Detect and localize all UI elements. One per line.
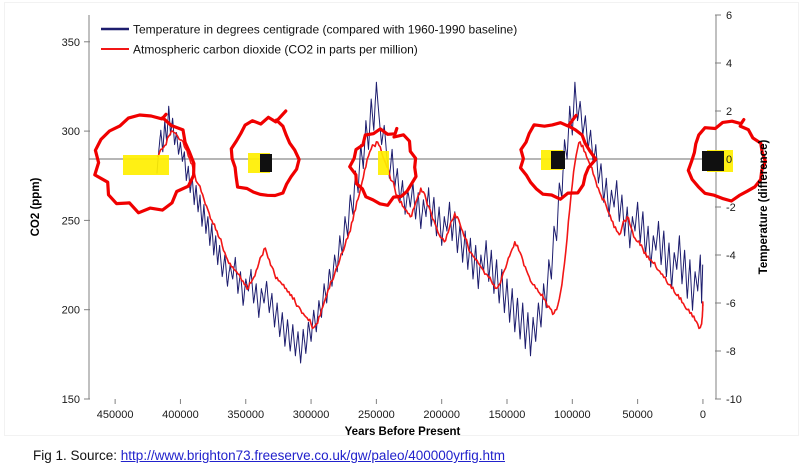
source-link[interactable]: http://www.brighton73.freeserve.co.uk/gw… [121, 448, 505, 463]
chart-series [157, 82, 703, 363]
y2-tick-label: -2 [726, 202, 736, 214]
y2-tick-label: -6 [726, 298, 736, 310]
paleoclimate-chart: Temperature in degrees centigrade (compa… [5, 3, 800, 437]
legend-label: Temperature in degrees centigrade (compa… [133, 23, 517, 37]
annotation-ink-blob [551, 151, 565, 169]
y-tick-label: 250 [62, 215, 80, 227]
y-tick-label: 150 [62, 394, 80, 406]
annotation-highlight [378, 151, 389, 175]
x-tick-label: 450000 [97, 409, 134, 421]
x-tick-label: 350000 [227, 409, 264, 421]
y2-tick-label: -10 [726, 394, 742, 406]
y2-tick-label: -8 [726, 346, 736, 358]
y2-tick-label: -4 [726, 250, 736, 262]
y2-tick-label: 0 [726, 154, 732, 166]
legend-label: Atmospheric carbon dioxide (CO2 in parts… [133, 43, 418, 57]
chart-axes [84, 15, 721, 404]
x-tick-label: 300000 [293, 409, 330, 421]
x-tick-label: 100000 [554, 409, 591, 421]
x-tick-label: 150000 [489, 409, 526, 421]
x-tick-label: 250000 [358, 409, 395, 421]
caption-prefix: Fig 1. Source: [33, 448, 121, 463]
y2-tick-label: 2 [726, 106, 732, 118]
annotation-highlight [123, 155, 169, 175]
y-axis-title: CO2 (ppm) [30, 177, 42, 236]
x-tick-label: 0 [700, 409, 706, 421]
annotation-ink-blob [260, 154, 272, 172]
figure-page: Temperature in degrees centigrade (compa… [0, 0, 805, 475]
y2-tick-label: 6 [726, 10, 732, 22]
y-tick-label: 350 [62, 37, 80, 49]
x-tick-label: 50000 [622, 409, 653, 421]
chart-legend: Temperature in degrees centigrade (compa… [101, 23, 517, 57]
x-tick-label: 400000 [162, 409, 199, 421]
y2-tick-label: 4 [726, 58, 732, 70]
series-temperature-line [157, 82, 703, 363]
y-tick-label: 300 [62, 126, 80, 138]
figure-caption: Fig 1. Source: http://www.brighton73.fre… [33, 448, 505, 463]
annotation-ink-blob [702, 151, 724, 171]
y-tick-label: 200 [62, 305, 80, 317]
hand-annotations [95, 111, 766, 213]
x-axis-title: Years Before Present [345, 426, 461, 437]
chart-frame: Temperature in degrees centigrade (compa… [4, 2, 799, 436]
y2-axis-title: Temperature (difference) [758, 140, 770, 275]
series-co2-line [157, 131, 703, 328]
x-tick-label: 200000 [423, 409, 460, 421]
